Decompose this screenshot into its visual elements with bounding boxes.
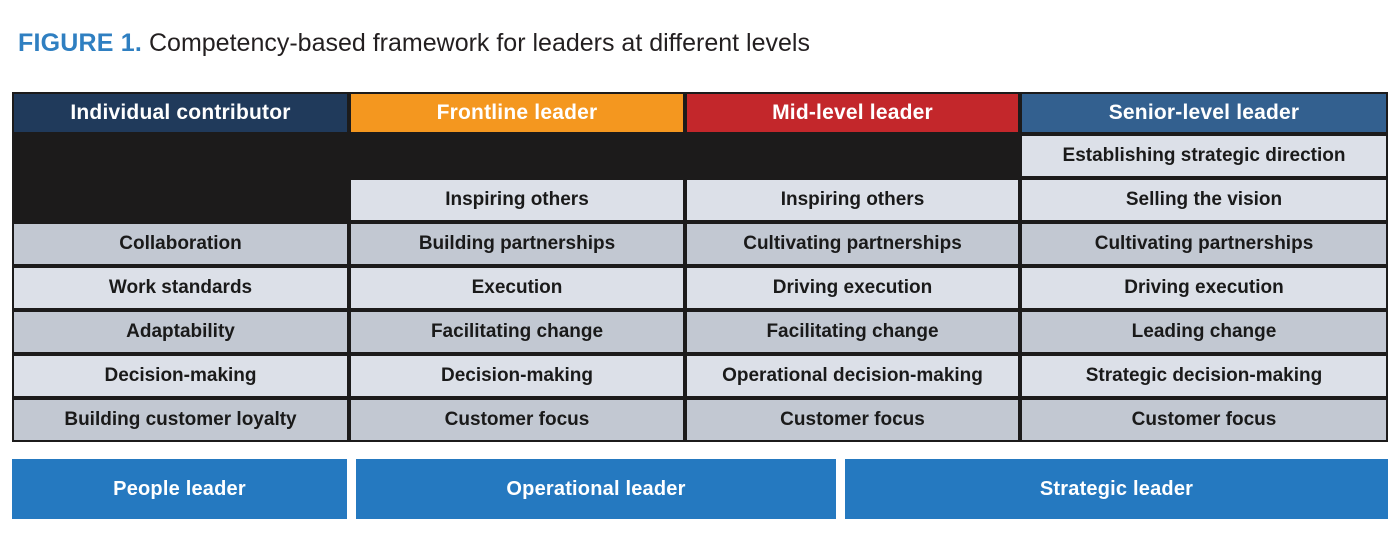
cell-competency: Cultivating partnerships bbox=[685, 222, 1020, 266]
cell-competency: Execution bbox=[349, 266, 685, 310]
cell-empty bbox=[685, 134, 1020, 178]
column-header-senior-level-leader: Senior-level leader bbox=[1020, 92, 1388, 134]
cell-competency: Strategic decision-making bbox=[1020, 354, 1388, 398]
cell-competency: Establishing strategic direction bbox=[1020, 134, 1388, 178]
leader-type-people: People leader bbox=[12, 459, 347, 519]
cell-competency: Selling the vision bbox=[1020, 178, 1388, 222]
cell-competency: Inspiring others bbox=[685, 178, 1020, 222]
cell-competency: Building partnerships bbox=[349, 222, 685, 266]
cell-competency: Decision-making bbox=[12, 354, 349, 398]
cell-competency: Work standards bbox=[12, 266, 349, 310]
cell-competency: Collaboration bbox=[12, 222, 349, 266]
column-header-mid-level-leader: Mid-level leader bbox=[685, 92, 1020, 134]
cell-competency: Building customer loyalty bbox=[12, 398, 349, 442]
leader-type-band: People leader Operational leader Strateg… bbox=[12, 459, 1388, 519]
cell-competency: Driving execution bbox=[685, 266, 1020, 310]
cell-competency: Adaptability bbox=[12, 310, 349, 354]
table-row: Adaptability Facilitating change Facilit… bbox=[12, 310, 1388, 354]
column-header-frontline-leader: Frontline leader bbox=[349, 92, 685, 134]
table-header-row: Individual contributor Frontline leader … bbox=[12, 92, 1388, 134]
cell-competency: Facilitating change bbox=[685, 310, 1020, 354]
figure-container: FIGURE 1. Competency-based framework for… bbox=[0, 0, 1400, 547]
leader-type-operational: Operational leader bbox=[356, 459, 836, 519]
cell-competency: Customer focus bbox=[685, 398, 1020, 442]
table-row: Work standards Execution Driving executi… bbox=[12, 266, 1388, 310]
leader-type-strategic: Strategic leader bbox=[845, 459, 1388, 519]
cell-competency: Leading change bbox=[1020, 310, 1388, 354]
cell-competency: Operational decision-making bbox=[685, 354, 1020, 398]
cell-competency: Inspiring others bbox=[349, 178, 685, 222]
cell-empty bbox=[12, 178, 349, 222]
cell-empty bbox=[349, 134, 685, 178]
figure-title: FIGURE 1. Competency-based framework for… bbox=[0, 0, 1400, 58]
competency-matrix-table: Individual contributor Frontline leader … bbox=[12, 92, 1388, 442]
column-header-individual-contributor: Individual contributor bbox=[12, 92, 349, 134]
table-row: Collaboration Building partnerships Cult… bbox=[12, 222, 1388, 266]
figure-number-label: FIGURE 1. bbox=[18, 29, 142, 57]
table-row: Building customer loyalty Customer focus… bbox=[12, 398, 1388, 442]
cell-competency: Driving execution bbox=[1020, 266, 1388, 310]
figure-caption: Competency-based framework for leaders a… bbox=[149, 29, 810, 57]
cell-competency: Customer focus bbox=[349, 398, 685, 442]
cell-competency: Customer focus bbox=[1020, 398, 1388, 442]
cell-competency: Cultivating partnerships bbox=[1020, 222, 1388, 266]
cell-empty bbox=[12, 134, 349, 178]
cell-competency: Facilitating change bbox=[349, 310, 685, 354]
table-row: Establishing strategic direction bbox=[12, 134, 1388, 178]
table-row: Inspiring others Inspiring others Sellin… bbox=[12, 178, 1388, 222]
cell-competency: Decision-making bbox=[349, 354, 685, 398]
table-row: Decision-making Decision-making Operatio… bbox=[12, 354, 1388, 398]
